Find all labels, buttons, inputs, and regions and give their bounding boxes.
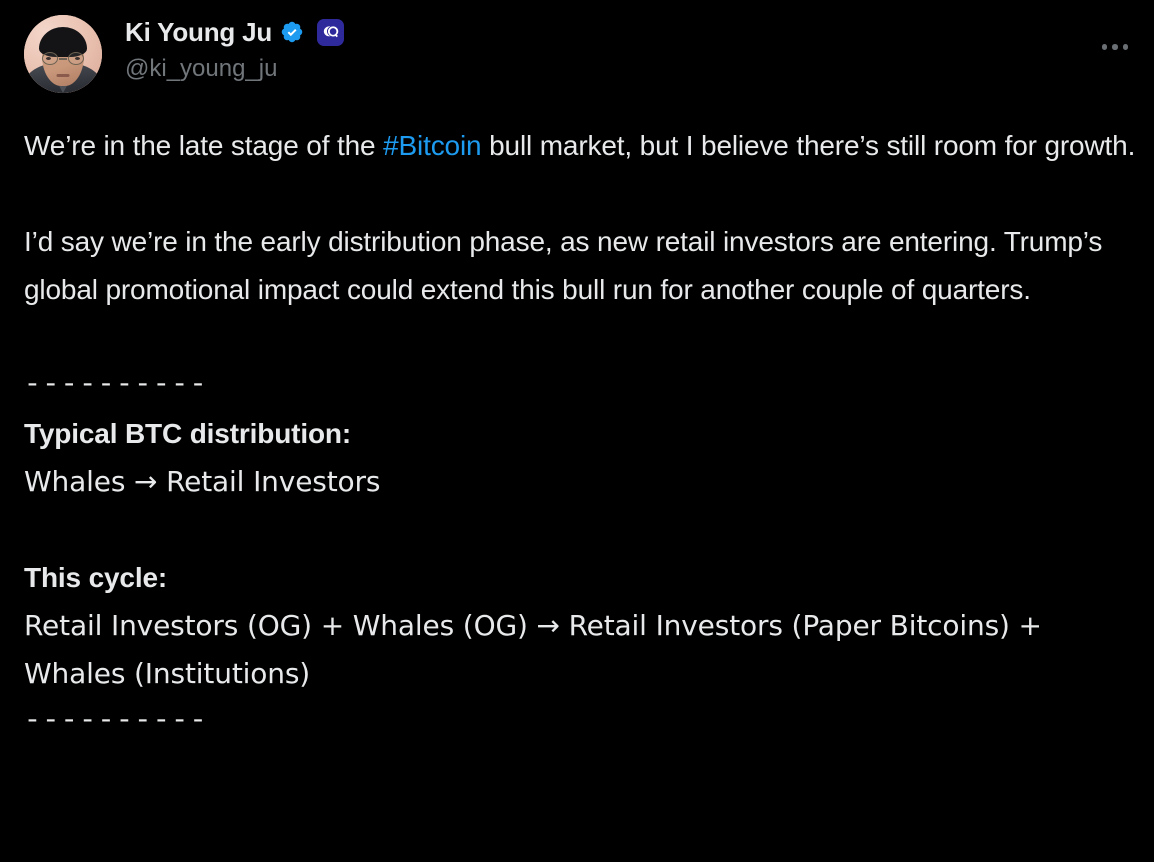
post-body: We’re in the late stage of the #Bitcoin …: [24, 122, 1148, 746]
dot: [1112, 44, 1118, 50]
paragraph-gap: [24, 170, 1148, 218]
separator-top: ----------: [24, 362, 1148, 410]
paragraph-gap: [24, 506, 1148, 554]
avatar-lens-right: [68, 52, 84, 65]
avatar-mouth: [57, 74, 70, 77]
dot: [1102, 44, 1108, 50]
this-cycle-flow: Retail Investors (OG) + Whales (OG) → Re…: [24, 602, 1148, 698]
verified-badge-icon[interactable]: [280, 20, 304, 44]
avatar[interactable]: [24, 15, 102, 93]
paragraph-gap: [24, 314, 1148, 362]
author-display-name[interactable]: Ki Young Ju: [125, 17, 272, 47]
more-options-icon[interactable]: [1096, 38, 1135, 56]
avatar-glasses: [41, 52, 85, 65]
avatar-glasses-bridge: [59, 58, 67, 60]
cryptoquant-logo-icon[interactable]: [317, 19, 344, 46]
paragraph-1: We’re in the late stage of the #Bitcoin …: [24, 122, 1148, 170]
dot: [1123, 44, 1129, 50]
paragraph-2: I’d say we’re in the early distribution …: [24, 218, 1148, 314]
separator-bottom: ----------: [24, 698, 1148, 746]
hashtag-bitcoin-link[interactable]: #Bitcoin: [383, 130, 481, 161]
avatar-lens-left: [42, 52, 58, 65]
heading-this-cycle: This cycle:: [24, 554, 1148, 602]
author-name-row: Ki Young Ju: [125, 14, 344, 50]
typical-distribution-flow: Whales → Retail Investors: [24, 458, 1148, 506]
post-header: Ki Young Ju @ki_young_ju: [24, 14, 1144, 98]
author-name-column: Ki Young Ju @ki_young_ju: [125, 14, 344, 84]
author-handle[interactable]: @ki_young_ju: [125, 54, 344, 84]
tweet-post: Ki Young Ju @ki_young_ju W: [0, 0, 1154, 862]
paragraph-1-text-before-link: We’re in the late stage of the: [24, 130, 383, 161]
heading-typical-distribution: Typical BTC distribution:: [24, 410, 1148, 458]
paragraph-1-text-after-link: bull market, but I believe there’s still…: [481, 130, 1135, 161]
